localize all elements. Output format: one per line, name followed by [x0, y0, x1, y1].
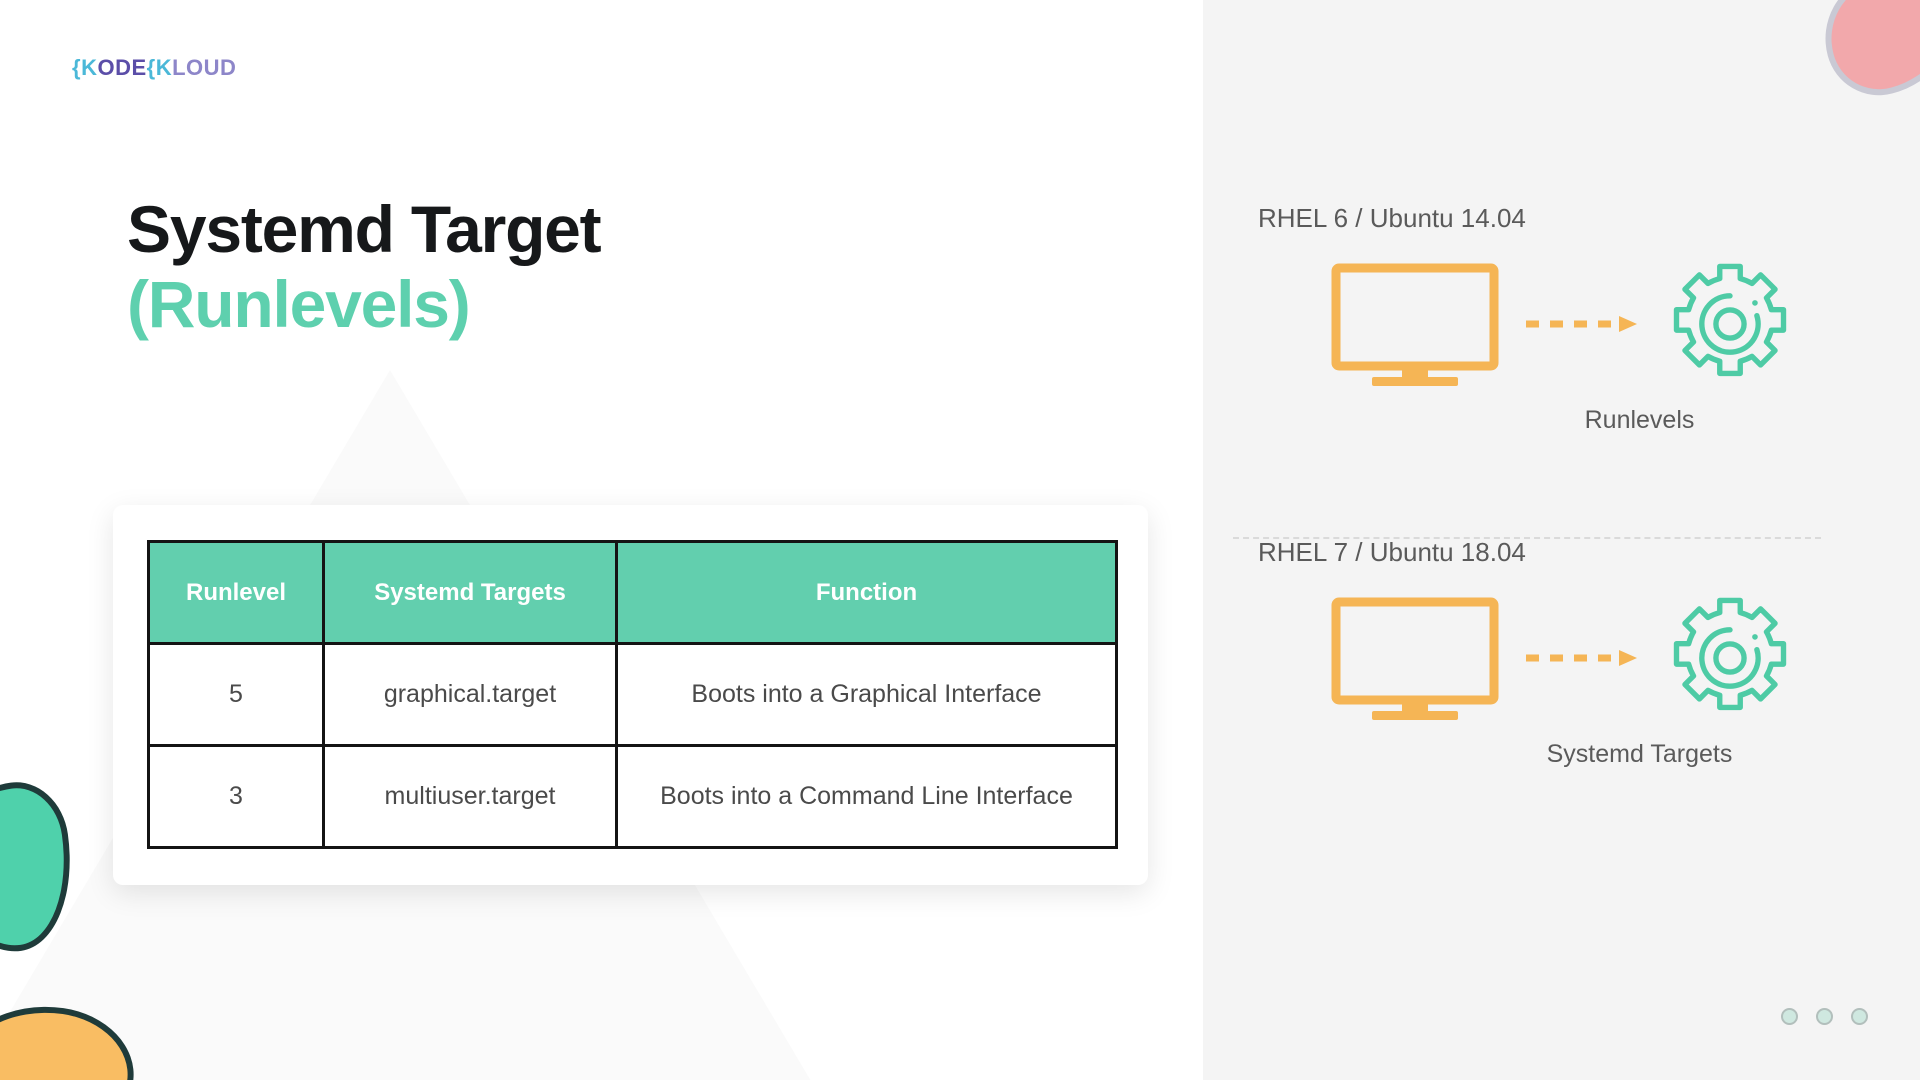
title-line-1: Systemd Target [127, 195, 600, 264]
right-panel-section-rhel7: RHEL 7 / Ubuntu 18.04 [1203, 537, 1920, 769]
logo-bracket-2: { [147, 55, 156, 80]
title-line-2: (Runlevels) [127, 268, 600, 342]
cell-runlevel: 3 [149, 746, 324, 848]
pagination-dot[interactable] [1851, 1008, 1868, 1025]
kodekloud-logo: {KODE{KLOUD [72, 55, 236, 81]
logo-text-1: ODE [97, 55, 146, 80]
column-header-systemd-targets: Systemd Targets [324, 542, 617, 644]
cell-target: graphical.target [324, 644, 617, 746]
section-caption: Systemd Targets [1359, 740, 1920, 769]
logo-k-2: K [156, 55, 172, 80]
cell-target: multiuser.target [324, 746, 617, 848]
gear-icon [1666, 594, 1794, 722]
monitor-icon [1330, 596, 1500, 721]
left-panel: {KODE{KLOUD Systemd Target (Runlevels) R… [0, 0, 1203, 1080]
cell-runlevel: 5 [149, 644, 324, 746]
page-title: Systemd Target (Runlevels) [127, 195, 600, 342]
monitor-icon [1330, 262, 1500, 387]
pagination-dot[interactable] [1816, 1008, 1833, 1025]
column-header-function: Function [617, 542, 1117, 644]
table-header-row: Runlevel Systemd Targets Function [149, 542, 1117, 644]
section-label: RHEL 7 / Ubuntu 18.04 [1258, 537, 1920, 568]
column-header-runlevel: Runlevel [149, 542, 324, 644]
logo-k-1: K [81, 55, 97, 80]
table-row: 3 multiuser.target Boots into a Command … [149, 746, 1117, 848]
pagination-dots[interactable] [1781, 1008, 1868, 1025]
runlevel-table: Runlevel Systemd Targets Function 5 grap… [147, 540, 1118, 849]
logo-bracket-1: { [72, 55, 81, 80]
section-diagram [1203, 260, 1920, 388]
gear-icon [1666, 260, 1794, 388]
cell-function: Boots into a Graphical Interface [617, 644, 1117, 746]
right-panel: RHEL 6 / Ubuntu 14.04 [1203, 0, 1920, 1080]
cell-function: Boots into a Command Line Interface [617, 746, 1117, 848]
right-panel-section-rhel6: RHEL 6 / Ubuntu 14.04 [1203, 203, 1920, 435]
dashed-arrow-right-icon [1524, 313, 1642, 335]
dashed-arrow-right-icon [1524, 647, 1642, 669]
pink-blob-decoration [1811, 0, 1920, 107]
pagination-dot[interactable] [1781, 1008, 1798, 1025]
section-label: RHEL 6 / Ubuntu 14.04 [1258, 203, 1920, 234]
slide-root: {KODE{KLOUD Systemd Target (Runlevels) R… [0, 0, 1920, 1080]
section-diagram [1203, 594, 1920, 722]
section-caption: Runlevels [1359, 406, 1920, 435]
logo-text-2: LOUD [172, 55, 236, 80]
table-row: 5 graphical.target Boots into a Graphica… [149, 644, 1117, 746]
